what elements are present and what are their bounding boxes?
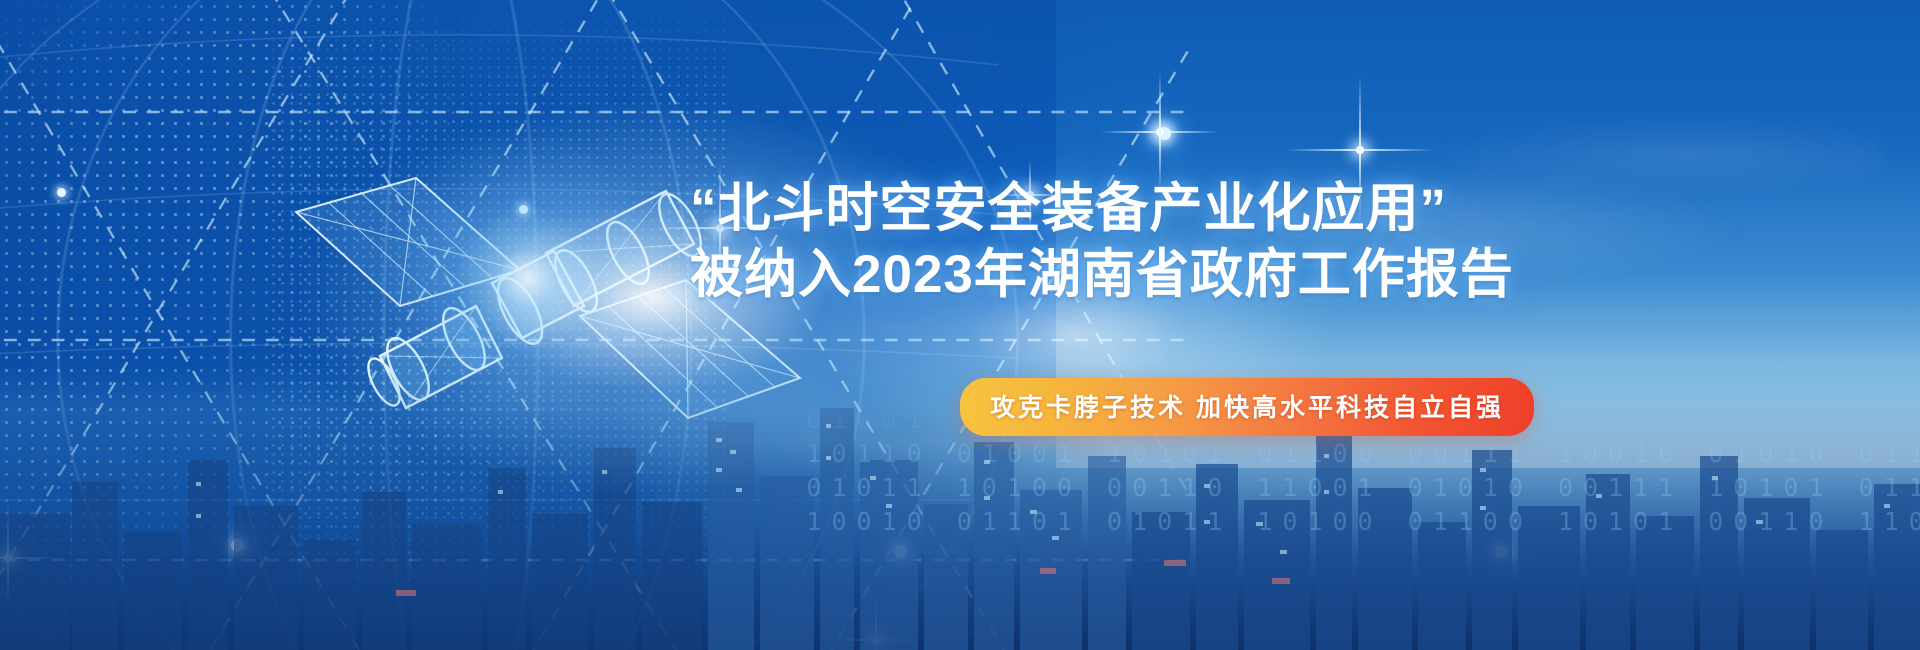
headline-line-2: 被纳入2023年湖南省政府工作报告 [690,244,1390,306]
binary-overlay: 01001 10110 01011 00110 10010 01101 0010… [806,403,1920,650]
headline-block: “北斗时空安全装备产业化应用” 被纳入2023年湖南省政府工作报告 [690,178,1390,306]
headline-line-1: “北斗时空安全装备产业化应用” [690,178,1390,240]
network-node [1158,127,1171,140]
network-node [57,188,66,197]
slogan-badge: 攻克卡脖子技术 加快高水平科技自立自强 [960,378,1534,436]
promo-banner: 01001 10110 01011 00110 10010 01101 0010… [0,0,1920,650]
slogan-badge-wrapper: 攻克卡脖子技术 加快高水平科技自立自强 [960,378,1534,436]
